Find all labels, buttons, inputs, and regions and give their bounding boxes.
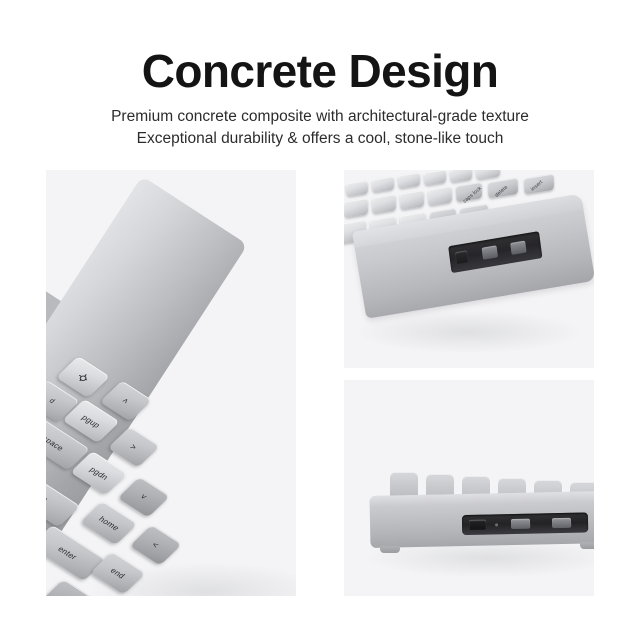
arrow-down-icon: ˅: [138, 492, 150, 502]
keyboard-photo-angled: d space \ enter shift ctrl pgup: [46, 170, 296, 596]
product-image-rear-ports[interactable]: caps lock delete insert ctrl print: [344, 170, 594, 368]
subtitle-line-1: Premium concrete composite with architec…: [0, 106, 640, 128]
usb-c-port: [455, 250, 468, 264]
keycap: [346, 180, 368, 196]
power-switch: [552, 518, 571, 528]
product-shadow: [354, 310, 584, 354]
keycap-arrow-left: ˂: [130, 525, 182, 566]
rubber-foot: [380, 546, 400, 553]
keycap: [344, 198, 368, 218]
sun-icon: [76, 371, 90, 382]
keycap: [450, 170, 472, 183]
mode-switch: [511, 519, 530, 529]
page-title: Concrete Design: [0, 0, 640, 94]
header: Concrete Design Premium concrete composi…: [0, 0, 640, 150]
power-switch: [510, 241, 526, 255]
keycap: [400, 190, 424, 210]
rubber-foot: [580, 542, 594, 549]
keycap-arrow-down: ˅: [118, 477, 170, 518]
keycap: [372, 194, 396, 214]
arrow-right-icon: ˃: [128, 442, 140, 452]
subtitle-line-2: Exceptional durability & offers a cool, …: [0, 128, 640, 150]
product-feature-page: Concrete Design Premium concrete composi…: [0, 0, 640, 640]
keycap: [476, 170, 500, 180]
keyboard-photo-rear: caps lock delete insert ctrl print: [344, 170, 594, 368]
product-image-angled-keycaps[interactable]: d space \ enter shift ctrl pgup: [46, 170, 296, 596]
port-bay: [462, 512, 588, 535]
product-image-side-profile[interactable]: [344, 380, 594, 596]
port-bay: [448, 231, 542, 273]
keycap-home: home: [80, 501, 137, 545]
keycap: [428, 186, 452, 206]
keyboard-photo-side: [344, 380, 594, 596]
page-subtitle: Premium concrete composite with architec…: [0, 106, 640, 150]
usb-c-port: [469, 520, 486, 530]
keycap-shift: shift: [46, 579, 111, 596]
keycap: [424, 170, 446, 186]
status-led: [495, 523, 498, 526]
keyboard-case-side: [369, 491, 594, 548]
keycap: [372, 176, 394, 192]
keycap: [398, 172, 420, 188]
arrow-up-icon: ˄: [120, 396, 132, 406]
mode-switch: [482, 245, 498, 259]
arrow-left-icon: ˂: [150, 540, 162, 550]
